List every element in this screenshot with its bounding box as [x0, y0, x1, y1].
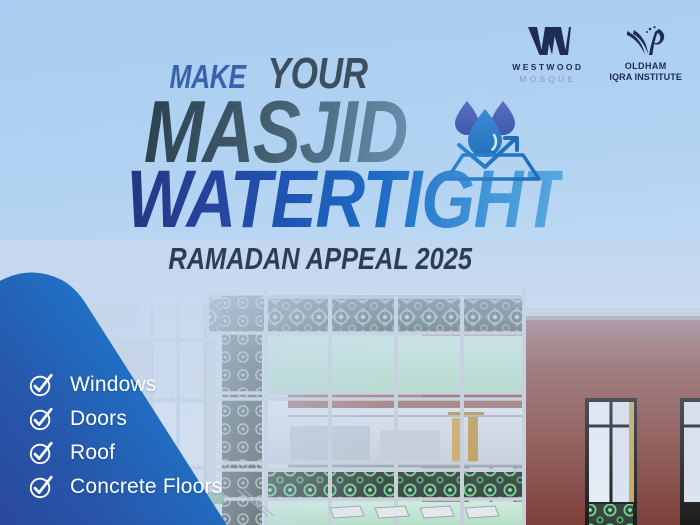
headline-subtitle: RAMADAN APPEAL 2025	[168, 243, 472, 274]
logo-oldham-line2: IQRA INSTITUTE	[609, 72, 682, 82]
check-circle-icon	[28, 474, 54, 500]
westwood-mosque-w-mark	[525, 26, 571, 56]
logo-westwood-mosque: WESTWOOD MOSQUE	[512, 26, 583, 84]
headline-block: MAKE YOUR MASJID WATERTIGHT RAMADAN APPE…	[0, 52, 700, 274]
checklist-label: Windows	[70, 373, 157, 397]
logo-westwood-line2: MOSQUE	[519, 74, 576, 84]
logo-oldham-line1: OLDHAM	[625, 61, 667, 71]
checklist-label: Roof	[70, 441, 115, 465]
check-circle-icon	[28, 440, 54, 466]
poster-canvas: Windows Doors Roof Concrete Floors	[0, 0, 700, 525]
logo-westwood-line1: WESTWOOD	[512, 62, 583, 72]
feature-checklist: Windows Doors Roof Concrete Floors	[28, 372, 298, 500]
partner-logos: WESTWOOD MOSQUE OLDHAM IQRA INSTITUTE	[512, 26, 682, 84]
checklist-item-concrete-floors: Concrete Floors	[28, 474, 298, 500]
water-droplets-repelling-surface-icon	[437, 97, 547, 185]
check-circle-icon	[28, 406, 54, 432]
oldham-iqra-institute-mark	[625, 26, 667, 56]
checklist-item-doors: Doors	[28, 406, 298, 432]
logo-oldham-iqra-institute: OLDHAM IQRA INSTITUTE	[609, 26, 682, 82]
checklist-label: Concrete Floors	[70, 475, 222, 499]
checklist-item-roof: Roof	[28, 440, 298, 466]
checklist-item-windows: Windows	[28, 372, 298, 398]
headline-line-subtitle: RAMADAN APPEAL 2025	[0, 243, 700, 274]
check-circle-icon	[28, 372, 54, 398]
checklist-label: Doors	[70, 407, 127, 431]
